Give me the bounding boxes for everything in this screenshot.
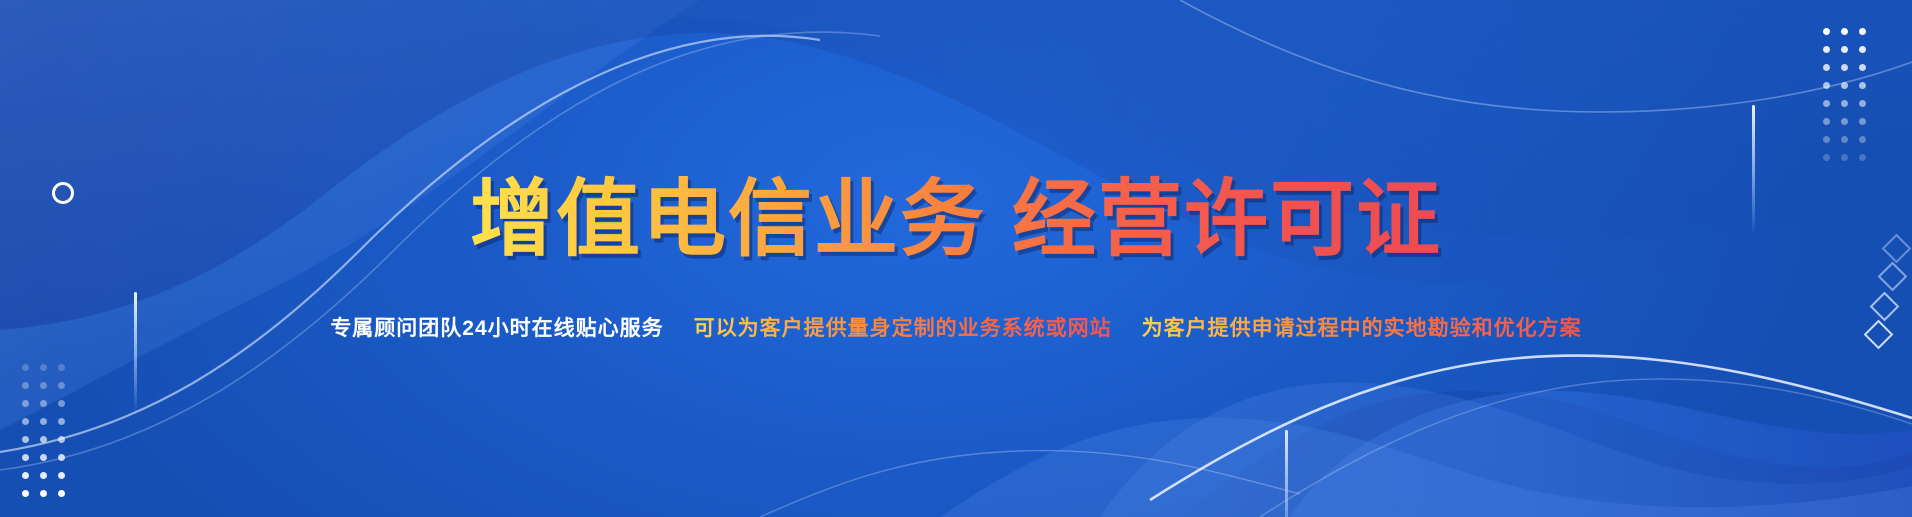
banner-headline: 增值电信业务经营许可证 — [470, 175, 1442, 263]
subtitle-item-1: 专属顾问团队24小时在线贴心服务 — [330, 312, 663, 342]
banner-subtitle: 专属顾问团队24小时在线贴心服务可以为客户提供量身定制的业务系统或网站为客户提供… — [330, 312, 1581, 342]
subtitle-item-3: 为客户提供申请过程中的实地勘验和优化方案 — [1142, 312, 1582, 342]
headline-part-2: 经营许可证 — [1012, 172, 1442, 266]
subtitle-item-2: 可以为客户提供量身定制的业务系统或网站 — [694, 312, 1112, 342]
banner-content: 增值电信业务经营许可证 专属顾问团队24小时在线贴心服务可以为客户提供量身定制的… — [0, 0, 1912, 517]
promo-banner: 增值电信业务经营许可证 专属顾问团队24小时在线贴心服务可以为客户提供量身定制的… — [0, 0, 1912, 517]
headline-part-1: 增值电信业务 — [470, 172, 986, 266]
